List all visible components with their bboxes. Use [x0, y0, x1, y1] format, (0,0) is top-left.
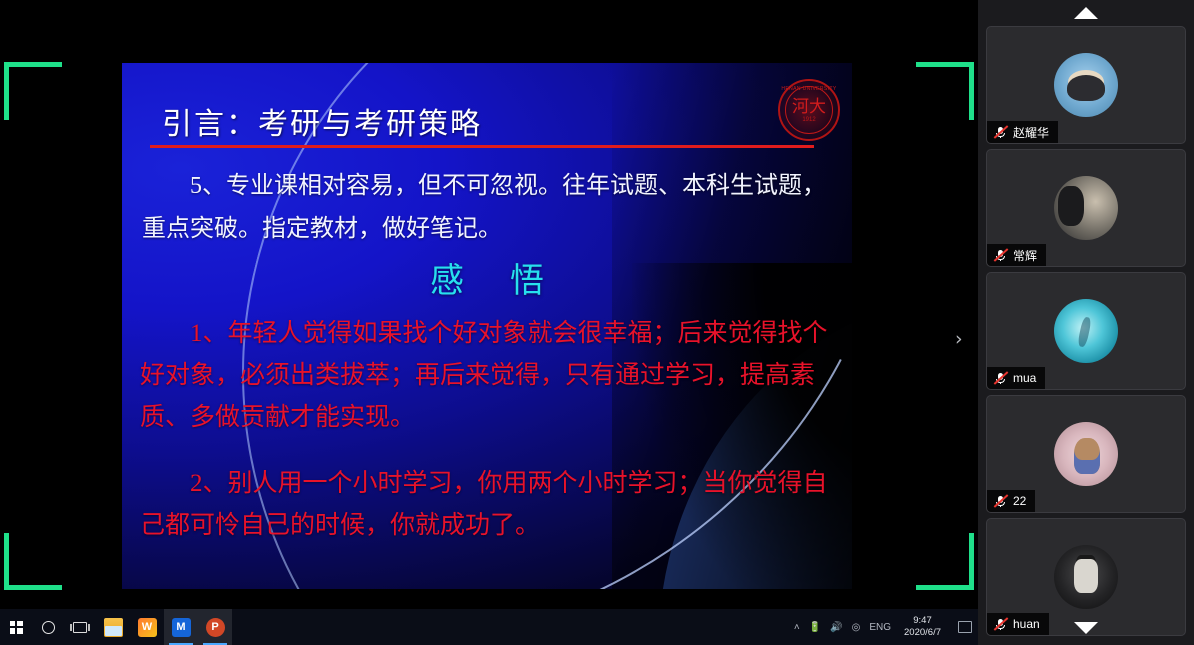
powerpoint-icon: P — [206, 618, 225, 637]
share-border-bottom-right — [916, 585, 974, 590]
clock-date: 2020/6/7 — [904, 627, 941, 638]
avatar — [1054, 299, 1118, 363]
shared-screen-area[interactable]: 引言：考研与考研策略 HENAN UNIVERSITY 河大 1912 5、专业… — [0, 0, 978, 645]
participant-tile[interactable]: 22 — [986, 395, 1186, 513]
windows-taskbar: W M P ˄ 🔋 🔊 ◎ ENG 9:47 2020/6/7 — [0, 609, 978, 645]
university-logo-icon: HENAN UNIVERSITY 河大 1912 — [778, 79, 840, 141]
search-circle-icon — [42, 621, 55, 634]
slide-body-red-1: 1、年轻人觉得如果找个好对象就会很幸福；后来觉得找个好对象，必须出类拔萃；再后来… — [140, 313, 846, 439]
participant-tile[interactable]: 常辉 — [986, 149, 1186, 267]
mic-muted-icon — [993, 248, 1008, 263]
meeting-screen: 引言：考研与考研策略 HENAN UNIVERSITY 河大 1912 5、专业… — [0, 0, 1194, 645]
taskbar-app-wps-office[interactable]: W — [130, 609, 164, 645]
slide-body-white: 5、专业课相对容易，但不可忽视。往年试题、本科生试题，重点突破。指定教材，做好笔… — [142, 165, 842, 250]
share-border-top-left — [4, 62, 62, 67]
participant-name-chip: 常辉 — [987, 244, 1046, 266]
participant-name: 22 — [1013, 494, 1026, 508]
avatar — [1054, 53, 1118, 117]
participant-tile[interactable]: mua — [986, 272, 1186, 390]
task-view-button[interactable] — [64, 609, 96, 645]
logo-year: 1912 — [802, 117, 815, 123]
participant-name: 常辉 — [1013, 247, 1037, 264]
mic-muted-icon — [993, 371, 1008, 386]
participant-name-chip: mua — [987, 367, 1045, 389]
chevron-down-icon — [1074, 622, 1098, 634]
task-view-icon — [73, 622, 87, 633]
tray-battery-icon[interactable]: 🔋 — [809, 622, 821, 633]
collapse-sidebar-chevron-icon[interactable]: › — [955, 330, 963, 349]
mic-muted-icon — [993, 494, 1008, 509]
tray-overflow-icon[interactable]: ˄ — [794, 622, 800, 633]
avatar — [1054, 422, 1118, 486]
participant-sidebar: 赵耀华 常辉 mua — [978, 0, 1194, 645]
search-button[interactable] — [32, 609, 64, 645]
taskbar-app-powerpoint[interactable]: P — [198, 609, 232, 645]
share-border-bottom-left — [4, 585, 62, 590]
show-desktop-button[interactable] — [958, 621, 972, 633]
share-border-right-top — [969, 62, 974, 120]
chevron-up-icon — [1074, 7, 1098, 19]
system-tray: ˄ 🔋 🔊 ◎ ENG 9:47 2020/6/7 — [794, 615, 978, 639]
logo-glyph: 河大 — [792, 98, 826, 115]
share-border-right-bottom — [969, 533, 974, 590]
share-border-left-top — [4, 62, 9, 120]
logo-arc-text: HENAN UNIVERSITY — [781, 86, 836, 92]
tray-language-indicator[interactable]: ENG — [869, 622, 891, 633]
avatar — [1054, 176, 1118, 240]
mic-muted-icon — [993, 125, 1008, 140]
slide-title: 引言：考研与考研策略 — [162, 99, 482, 143]
share-border-top-right — [916, 62, 974, 67]
windows-logo-icon — [10, 621, 23, 634]
scroll-down-button[interactable] — [978, 615, 1194, 641]
tray-volume-icon[interactable]: 🔊 — [830, 622, 842, 633]
tray-network-icon[interactable]: ◎ — [852, 622, 861, 633]
meeting-app-icon: M — [172, 618, 191, 637]
slide-body-red-2: 2、别人用一个小时学习，你用两个小时学习；当你觉得自己都可怜自己的时候，你就成功… — [140, 463, 846, 547]
participant-name-chip: 22 — [987, 490, 1035, 512]
share-border-left-bottom — [4, 533, 9, 590]
taskbar-clock[interactable]: 9:47 2020/6/7 — [900, 615, 945, 639]
participant-name: mua — [1013, 371, 1036, 385]
file-explorer-icon — [104, 618, 123, 637]
participant-name-chip: 赵耀华 — [987, 121, 1058, 143]
slide-title-rule — [150, 145, 814, 148]
start-button[interactable] — [0, 609, 32, 645]
avatar — [1054, 545, 1118, 609]
powerpoint-slide[interactable]: 引言：考研与考研策略 HENAN UNIVERSITY 河大 1912 5、专业… — [122, 63, 852, 589]
taskbar-app-file-explorer[interactable] — [96, 609, 130, 645]
participant-name: 赵耀华 — [1013, 124, 1049, 141]
clock-time: 9:47 — [913, 615, 932, 626]
slide-accent-heading: 感悟 — [122, 253, 852, 302]
wps-office-icon: W — [138, 618, 157, 637]
taskbar-app-meeting[interactable]: M — [164, 609, 198, 645]
scroll-up-button[interactable] — [986, 0, 1186, 26]
participant-list: 赵耀华 常辉 mua — [986, 26, 1186, 636]
participant-tile[interactable]: 赵耀华 — [986, 26, 1186, 144]
